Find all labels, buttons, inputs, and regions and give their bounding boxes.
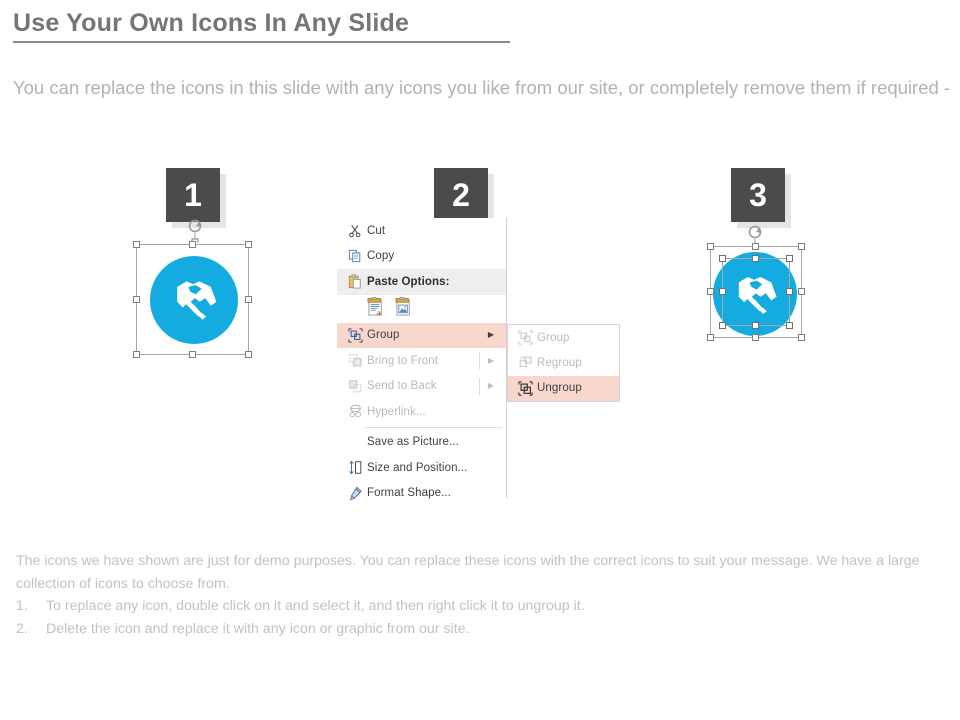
page-title: Use Your Own Icons In Any Slide <box>13 9 409 38</box>
selection-frame-inner-3 <box>722 258 790 326</box>
step-badge-2: 2 <box>434 168 488 222</box>
selection-handle-outer-nw[interactable] <box>707 243 714 250</box>
selection-handle-inner-ne[interactable] <box>786 255 793 262</box>
selection-handle-inner-w[interactable] <box>719 288 726 295</box>
submenu-item-regroup[interactable]: Regroup <box>508 350 619 375</box>
selection-handle-inner-nw[interactable] <box>719 255 726 262</box>
menu-item-label: Cut <box>367 225 385 237</box>
menu-item-label: Copy <box>367 250 394 262</box>
menu-item-label: Save as Picture... <box>367 436 459 448</box>
group-submenu: Group Regroup Ungroup <box>507 324 620 402</box>
list-item: 2. Delete the icon and replace it with a… <box>16 618 946 641</box>
selection-handle-inner-n[interactable] <box>752 255 759 262</box>
menu-item-label: Hyperlink... <box>367 406 426 418</box>
selection-handle-outer-e[interactable] <box>798 288 805 295</box>
ungroup-icon <box>513 381 537 396</box>
format-shape-icon <box>343 486 367 501</box>
chevron-right-icon: ▶ <box>488 331 494 339</box>
selection-handle-sw[interactable] <box>133 351 140 358</box>
list-item-number: 2. <box>16 618 46 641</box>
menu-item-size-and-position[interactable]: Size and Position... <box>337 455 506 481</box>
submenu-item-label: Ungroup <box>537 382 582 394</box>
group-icon <box>513 330 537 345</box>
footer-steps-list: 1. To replace any icon, double click on … <box>16 595 946 640</box>
selection-handle-outer-sw[interactable] <box>707 334 714 341</box>
submenu-item-label: Regroup <box>537 357 582 369</box>
selection-handle-outer-s[interactable] <box>752 334 759 341</box>
copy-icon <box>343 249 367 263</box>
submenu-item-label: Group <box>537 332 569 344</box>
list-item-number: 1. <box>16 595 46 618</box>
menu-item-label: Paste Options: <box>367 276 450 288</box>
menu-separator <box>365 427 502 428</box>
selection-frame-1 <box>136 244 249 355</box>
page-subtitle: You can replace the icons in this slide … <box>13 73 958 102</box>
menu-item-label: Size and Position... <box>367 462 467 474</box>
menu-item-cut[interactable]: Cut <box>337 218 506 244</box>
paste-picture-icon[interactable] <box>395 297 414 320</box>
menu-divider <box>479 378 480 395</box>
menu-item-paste-options: Paste Options: <box>337 269 506 295</box>
menu-item-label: Group <box>367 329 399 341</box>
group-icon <box>343 328 367 343</box>
list-item-text: Delete the icon and replace it with any … <box>46 618 469 641</box>
send-to-back-icon <box>343 379 367 394</box>
menu-item-label: Bring to Front <box>367 355 438 367</box>
submenu-item-ungroup[interactable]: Ungroup <box>508 376 619 401</box>
submenu-item-group[interactable]: Group <box>508 325 619 350</box>
paste-icon <box>343 274 367 289</box>
selection-handle-outer-ne[interactable] <box>798 243 805 250</box>
selection-handle-n[interactable] <box>189 241 196 248</box>
menu-item-hyperlink[interactable]: Hyperlink... <box>337 399 506 425</box>
menu-item-group[interactable]: Group ▶ <box>337 323 506 349</box>
selection-handle-inner-se[interactable] <box>786 322 793 329</box>
paste-keep-text-icon[interactable]: a <box>367 297 386 320</box>
rotation-handle-1[interactable] <box>186 219 204 243</box>
selection-handle-outer-n[interactable] <box>752 243 759 250</box>
menu-divider <box>479 352 480 369</box>
selection-handle-ne[interactable] <box>245 241 252 248</box>
menu-item-format-shape[interactable]: Format Shape... <box>337 481 506 507</box>
selection-handle-inner-s[interactable] <box>752 322 759 329</box>
selection-handle-outer-w[interactable] <box>707 288 714 295</box>
footer-text: The icons we have shown are just for dem… <box>16 550 946 640</box>
step-badge-1: 1 <box>166 168 220 222</box>
selection-handle-se[interactable] <box>245 351 252 358</box>
selection-handle-inner-sw[interactable] <box>719 322 726 329</box>
regroup-icon <box>513 355 537 370</box>
scissors-icon <box>343 224 367 238</box>
menu-item-save-as-picture[interactable]: Save as Picture... <box>337 430 506 456</box>
step-badge-3: 3 <box>731 168 785 222</box>
chevron-right-icon: ▶ <box>488 357 494 365</box>
selection-handle-s[interactable] <box>189 351 196 358</box>
menu-item-bring-to-front[interactable]: Bring to Front ▶ <box>337 348 506 374</box>
list-item-text: To replace any icon, double click on it … <box>46 595 585 618</box>
menu-item-label: Send to Back <box>367 380 437 392</box>
context-menu: Cut Copy Paste Options: <box>337 218 507 498</box>
footer-paragraph: The icons we have shown are just for dem… <box>16 550 946 595</box>
selection-handle-inner-e[interactable] <box>786 288 793 295</box>
title-underline <box>13 41 510 43</box>
menu-item-send-to-back[interactable]: Send to Back ▶ <box>337 374 506 400</box>
bring-to-front-icon <box>343 353 367 368</box>
hyperlink-icon <box>343 404 367 419</box>
svg-text:a: a <box>377 308 381 317</box>
selection-handle-w[interactable] <box>133 296 140 303</box>
size-position-icon <box>343 460 367 475</box>
chevron-right-icon: ▶ <box>488 382 494 390</box>
list-item: 1. To replace any icon, double click on … <box>16 595 946 618</box>
selection-handle-nw[interactable] <box>133 241 140 248</box>
selection-handle-e[interactable] <box>245 296 252 303</box>
selection-handle-outer-se[interactable] <box>798 334 805 341</box>
paste-options-row: a <box>337 295 506 323</box>
menu-item-label: Format Shape... <box>367 487 451 499</box>
menu-item-copy[interactable]: Copy <box>337 244 506 270</box>
